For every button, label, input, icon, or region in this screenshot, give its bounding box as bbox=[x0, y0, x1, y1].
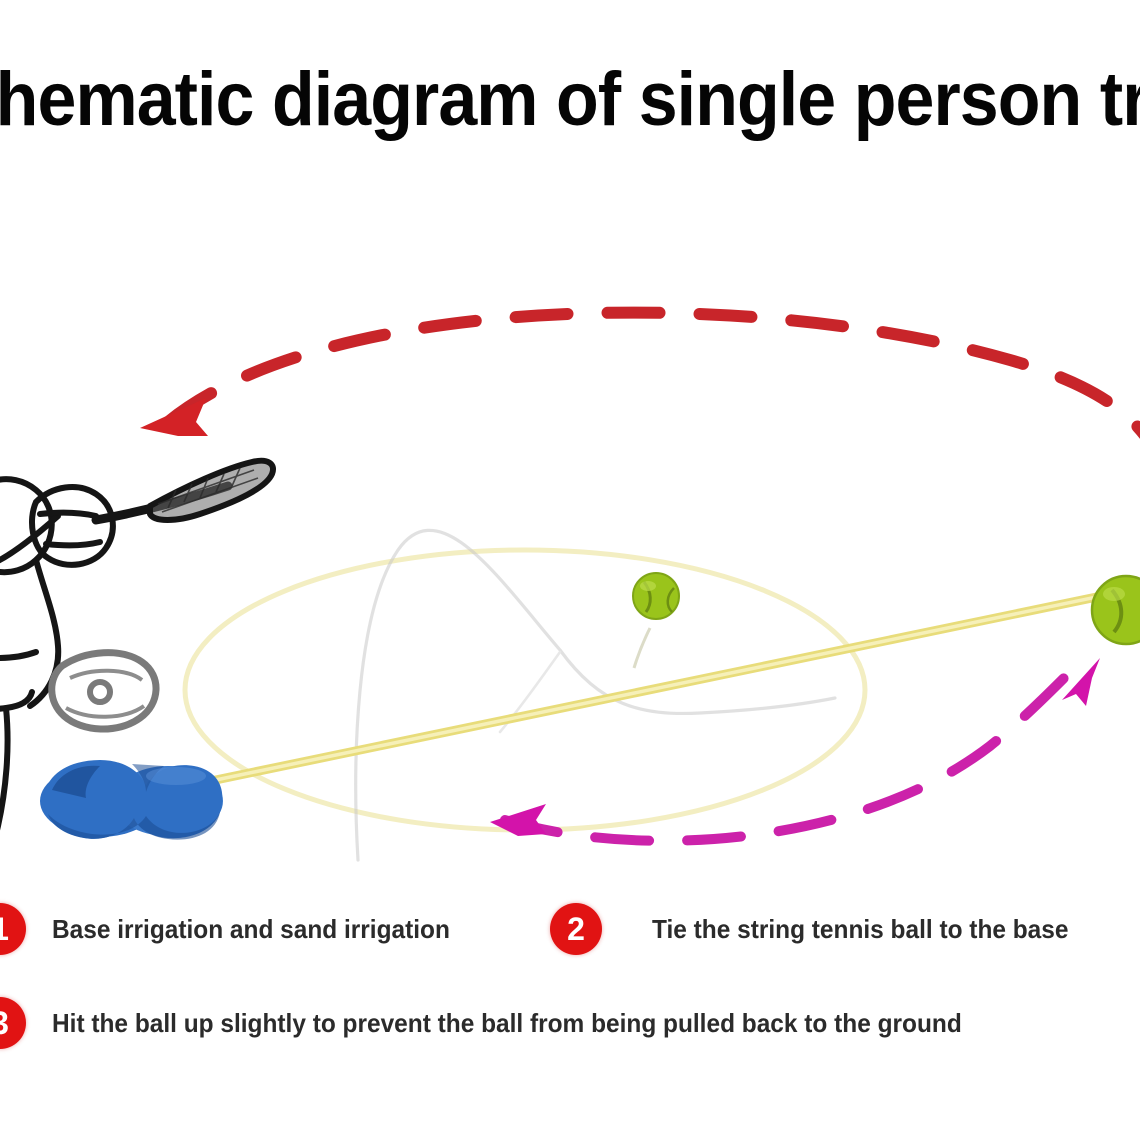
ghost-ellipse bbox=[185, 550, 865, 830]
tennis-ball-large bbox=[1092, 576, 1140, 644]
racket-head bbox=[150, 461, 273, 520]
legend-badge-2: 2 bbox=[550, 903, 602, 955]
legend: 1 Base irrigation and sand irrigation 2 … bbox=[0, 890, 1140, 1070]
legend-label-1: Base irrigation and sand irrigation bbox=[52, 914, 450, 945]
title-band: Schematic diagram of single person train… bbox=[0, 40, 1140, 160]
legend-badge-1: 1 bbox=[0, 903, 26, 955]
red-arrow-head bbox=[140, 398, 208, 436]
magenta-dashed-arc bbox=[490, 658, 1100, 841]
legend-item-3[interactable]: 3 Hit the ball up slightly to prevent th… bbox=[0, 997, 1020, 1049]
diagram-page: Schematic diagram of single person train… bbox=[0, 0, 1140, 1140]
legend-label-2: Tie the string tennis ball to the base bbox=[652, 914, 1068, 945]
legend-label-3: Hit the ball up slightly to prevent the … bbox=[52, 1008, 962, 1039]
legend-item-2[interactable]: 2 Tie the string tennis ball to the base bbox=[550, 903, 1095, 955]
legend-item-1[interactable]: 1 Base irrigation and sand irrigation bbox=[0, 903, 475, 955]
legend-row: 1 Base irrigation and sand irrigation 2 … bbox=[0, 896, 1140, 962]
racket-sketch bbox=[32, 461, 273, 565]
legend-row: 3 Hit the ball up slightly to prevent th… bbox=[0, 990, 1140, 1056]
legend-badge-3: 3 bbox=[0, 997, 26, 1049]
ball-sketch-gray bbox=[52, 653, 156, 729]
blue-base bbox=[40, 760, 223, 840]
ghost-string-curve bbox=[356, 530, 835, 860]
page-title: Schematic diagram of single person train… bbox=[0, 40, 1140, 160]
illustration-stage bbox=[0, 160, 1140, 880]
red-dashed-arc bbox=[140, 313, 1140, 460]
training-diagram-svg bbox=[0, 160, 1140, 880]
string-line bbox=[206, 588, 1140, 782]
tennis-ball-small bbox=[633, 573, 679, 668]
magenta-arrow-head-right bbox=[1062, 658, 1100, 706]
